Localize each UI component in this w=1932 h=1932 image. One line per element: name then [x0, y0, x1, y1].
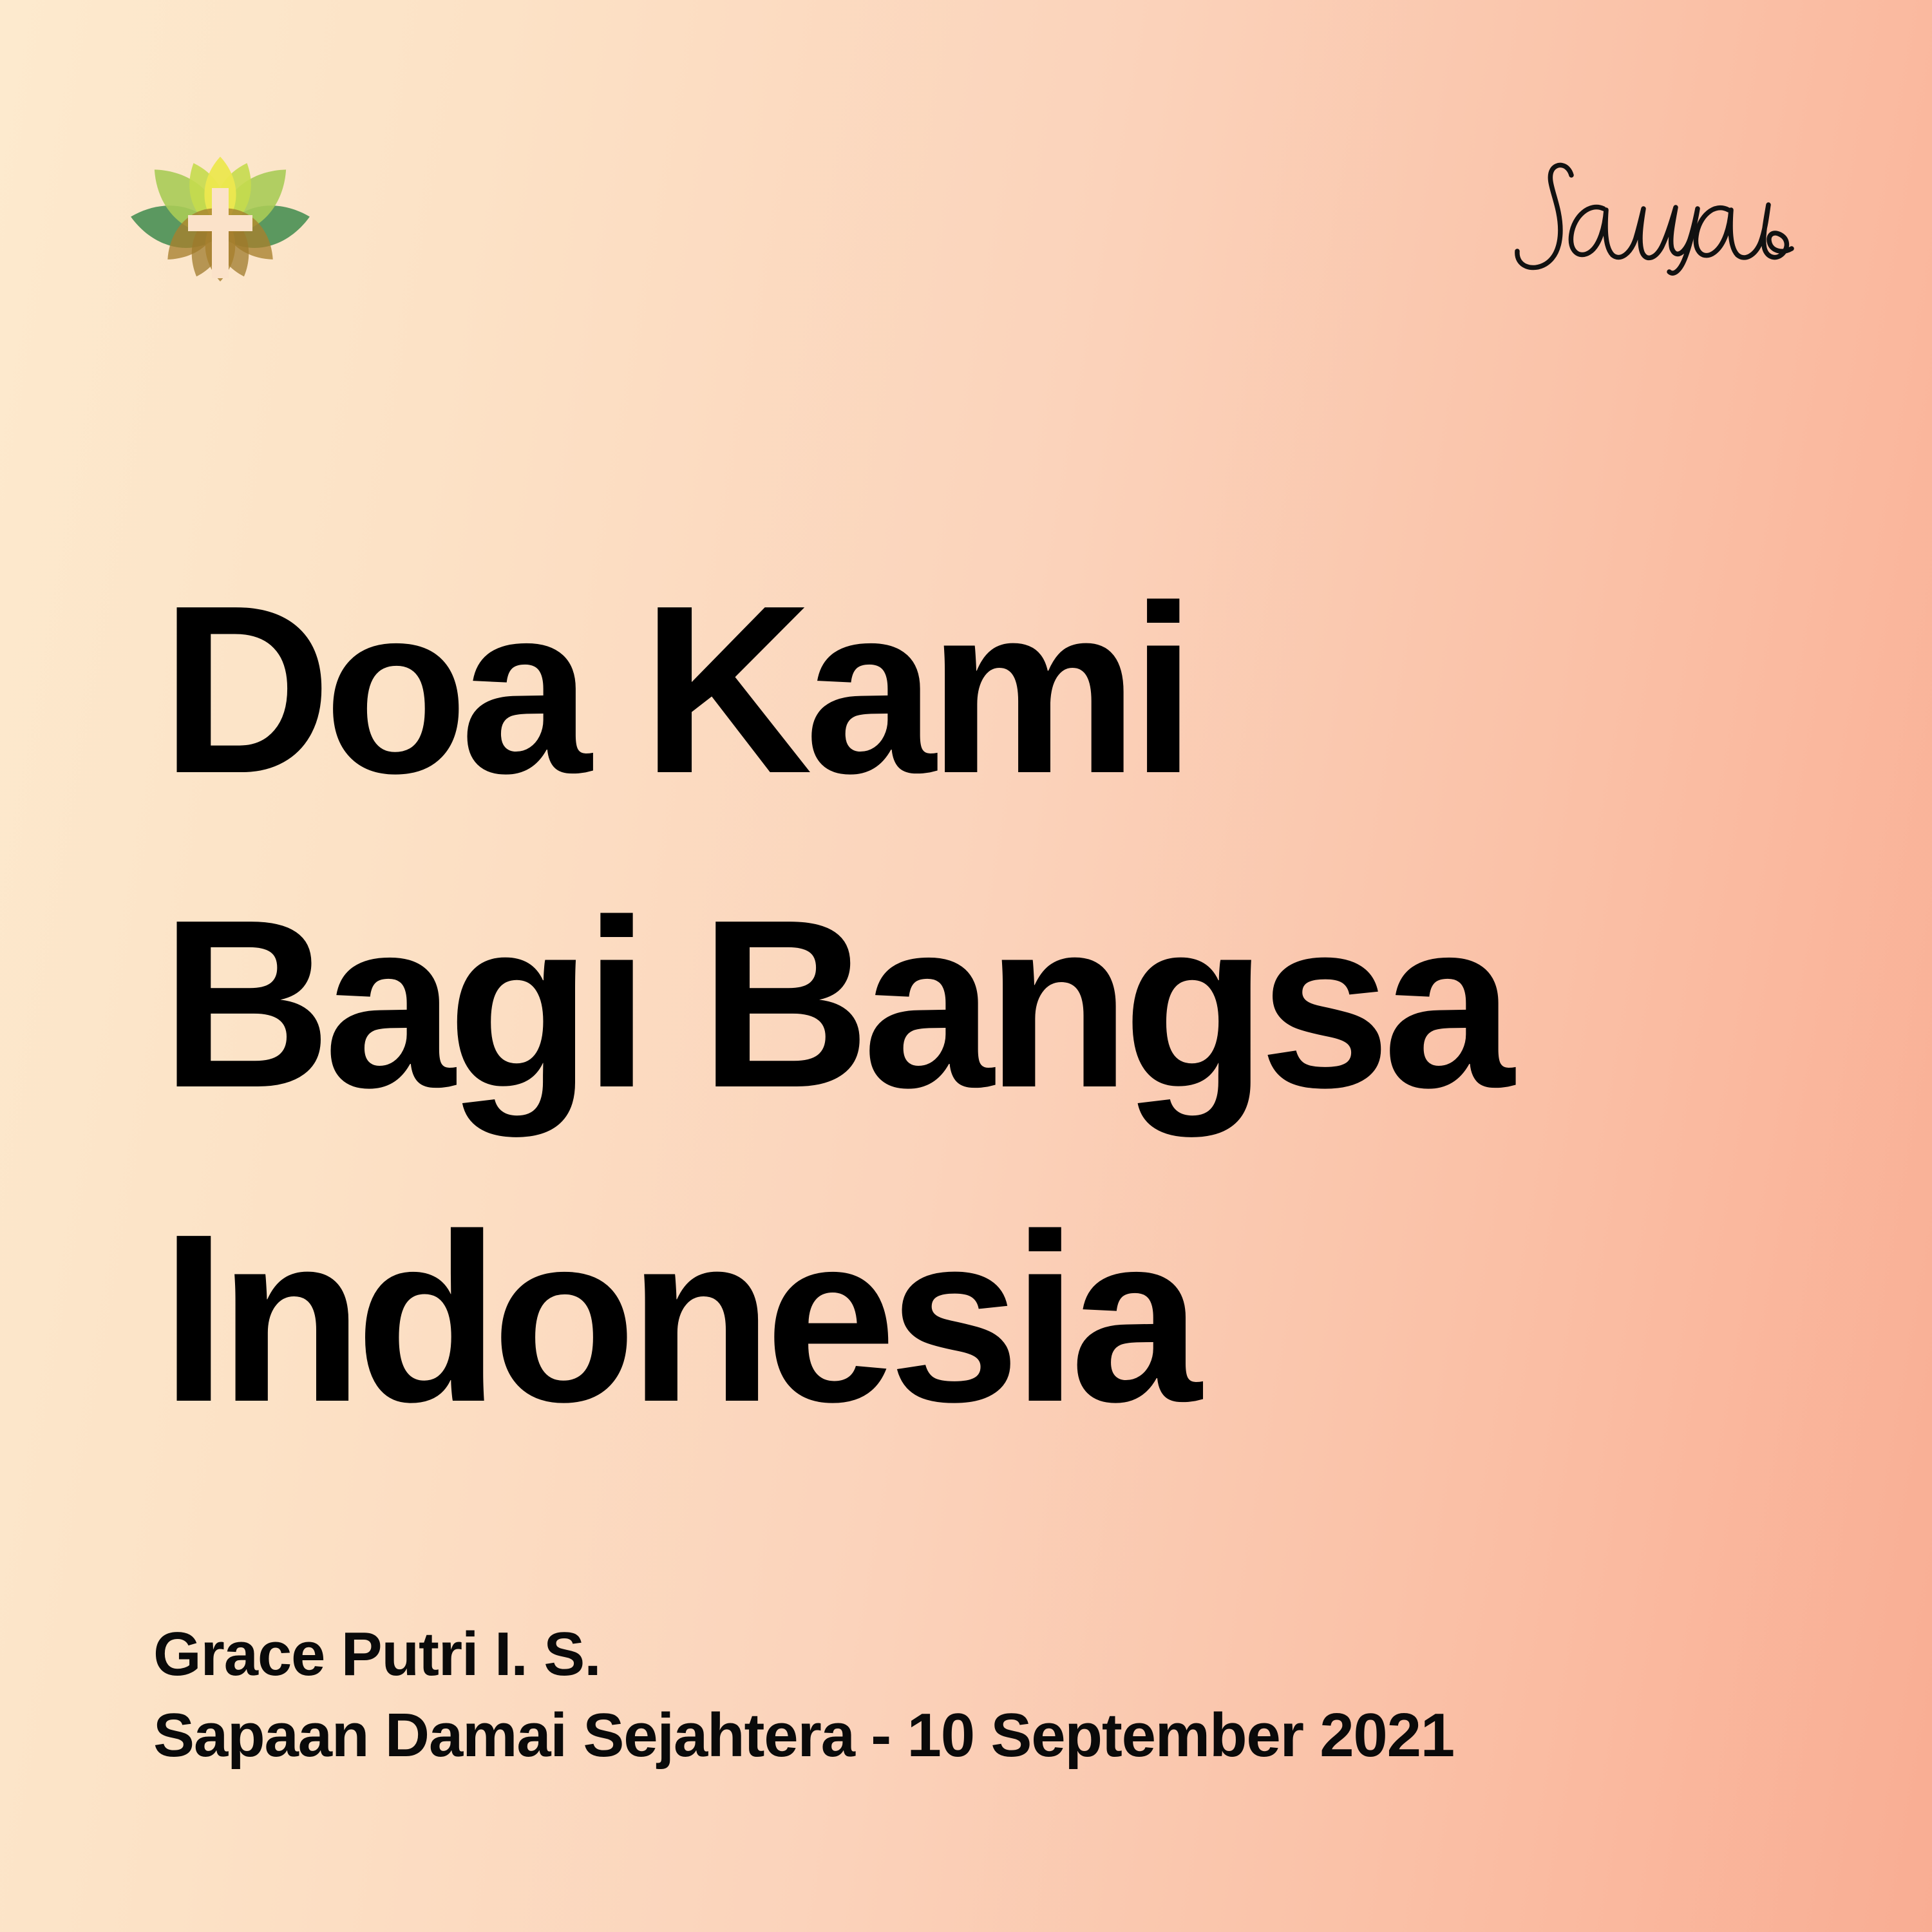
footer-series-date: Sapaan Damai Sejahtera - 10 September 20… — [153, 1695, 1763, 1776]
headline-line-3: Indonesia — [161, 1160, 1683, 1475]
page-title: Doa Kami Bagi Bangsa Indonesia — [161, 532, 1707, 1475]
headline-line-1: Doa Kami — [161, 532, 1683, 846]
footer-credits: Grace Putri I. S. Sapaan Damai Sejahtera… — [153, 1614, 1763, 1776]
headline-line-2: Bagi Bangsa — [161, 846, 1683, 1160]
samas-lotus-cross-logo — [126, 126, 314, 314]
footer-author: Grace Putri I. S. — [153, 1614, 1763, 1695]
samas-wordmark — [1507, 157, 1810, 292]
slide-canvas: Doa Kami Bagi Bangsa Indonesia Grace Put… — [0, 0, 1932, 1932]
